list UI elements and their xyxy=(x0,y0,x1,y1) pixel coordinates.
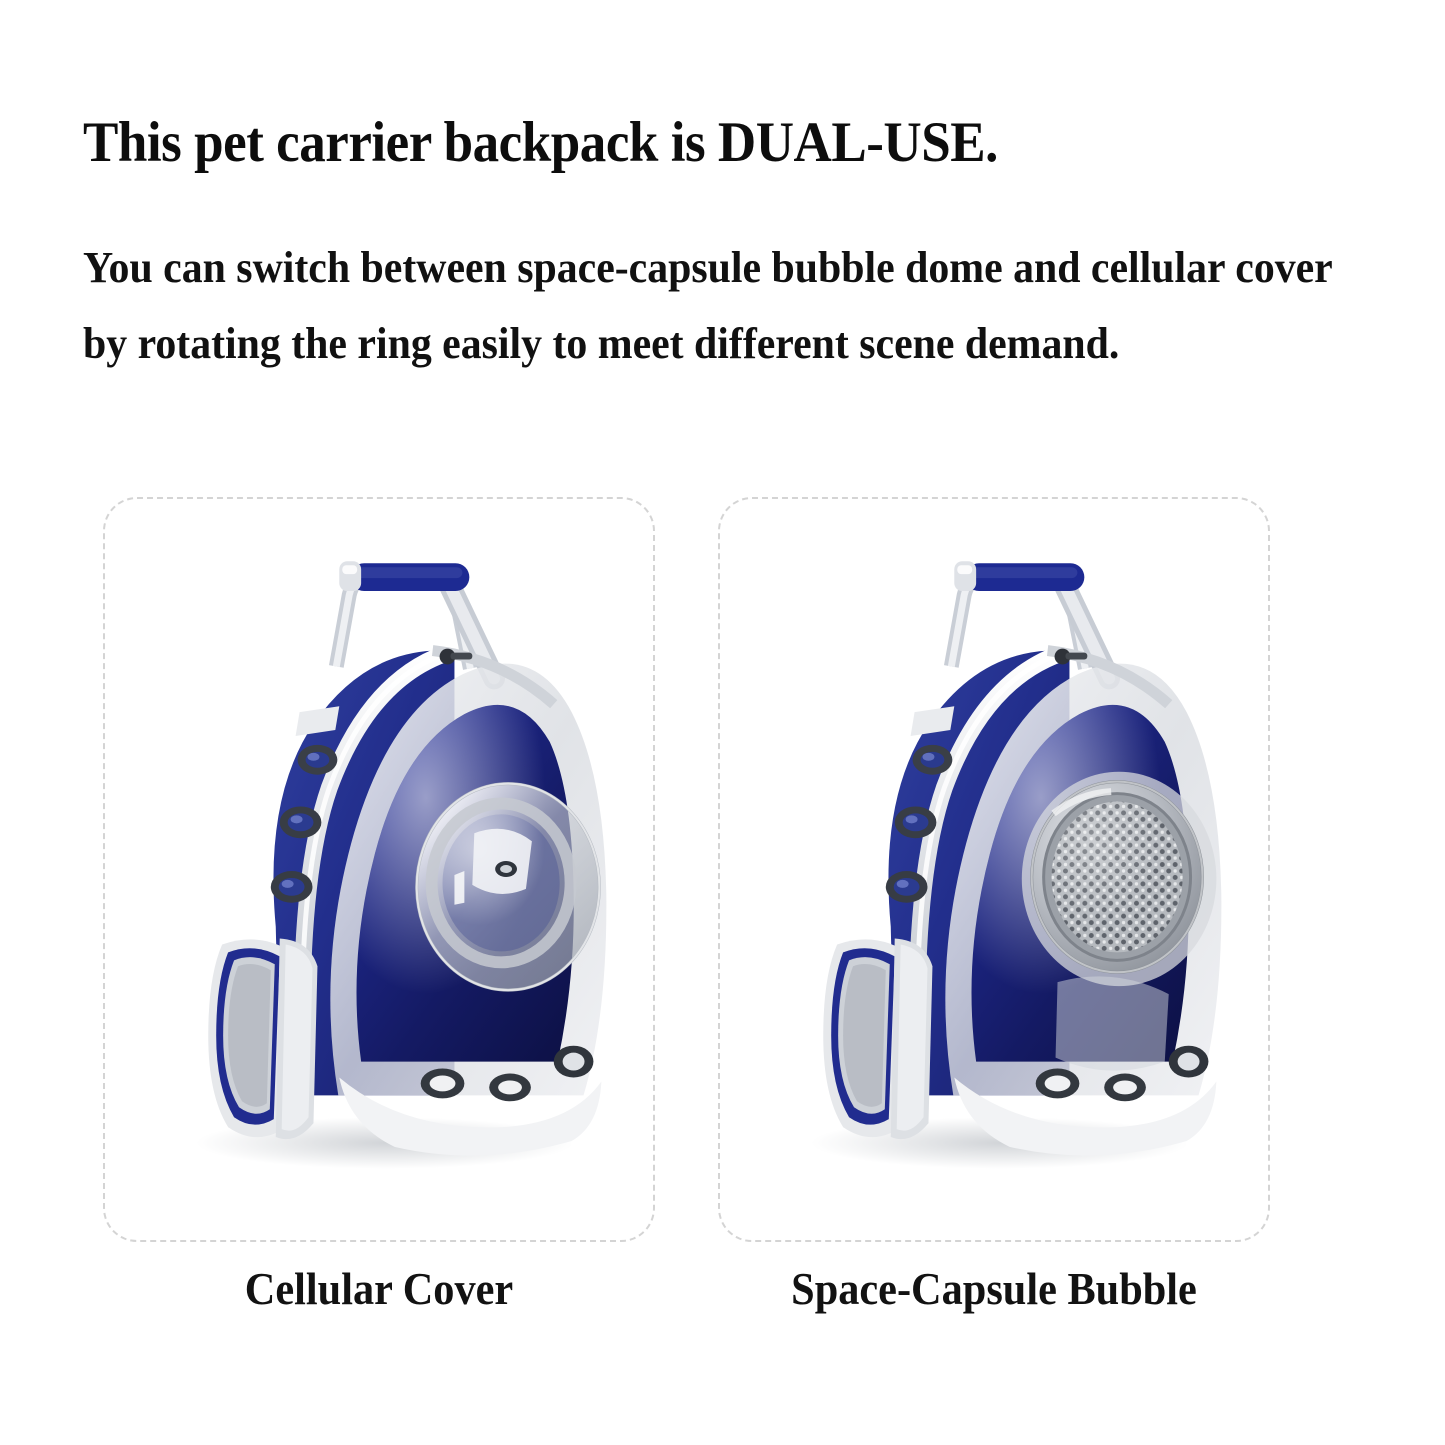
zipper-tab xyxy=(450,653,472,660)
product-frame-cellular-cover xyxy=(103,497,655,1242)
product-illustration-bubble xyxy=(105,499,653,1240)
bubble-dome-module xyxy=(417,784,600,990)
caption-space-capsule-bubble: Space-Capsule Bubble xyxy=(740,1262,1248,1316)
product-frame-space-capsule-bubble xyxy=(718,497,1270,1242)
carry-handle xyxy=(954,561,1084,591)
zipper-tab xyxy=(1065,653,1087,660)
carry-handle xyxy=(339,561,469,591)
description-paragraph: You can switch between space-capsule bub… xyxy=(83,230,1356,382)
page-title: This pet carrier backpack is DUAL-USE. xyxy=(83,112,1292,174)
cellular-cover-module xyxy=(1022,772,1217,986)
text-block: This pet carrier backpack is DUAL-USE. Y… xyxy=(83,112,1383,382)
side-mesh-pocket xyxy=(208,938,317,1139)
product-illustration-cellular xyxy=(720,499,1268,1240)
product-frames xyxy=(0,497,1445,1242)
side-mesh-pocket xyxy=(823,938,932,1139)
interior-mesh xyxy=(1056,976,1169,1070)
infographic-page: This pet carrier backpack is DUAL-USE. Y… xyxy=(0,0,1445,1445)
caption-cellular-cover: Cellular Cover xyxy=(125,1262,633,1316)
